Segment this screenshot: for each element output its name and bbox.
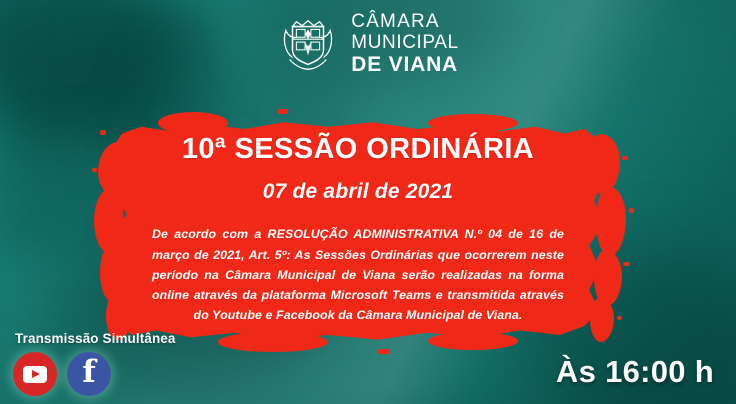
splash-speck [629,208,634,213]
youtube-icon [23,366,47,383]
brand-line-1: CÂMARA [351,12,458,31]
simulcast-label: Transmissão Simultânea [15,331,176,346]
event-poster: CÂMARA MUNICIPAL DE VIANA 10ª SESSÃO ORD [0,0,736,404]
splash-speck [623,262,630,266]
facebook-icon: f [82,357,95,388]
page-title: 10ª SESSÃO ORDINÁRIA [150,134,566,164]
simulcast-block: Transmissão Simultânea f [13,331,176,396]
youtube-link[interactable] [13,352,57,396]
red-splash-panel: 10ª SESSÃO ORDINÁRIA 07 de abril de 2021… [98,112,618,350]
splash-speck [622,156,628,160]
brand-wordmark: CÂMARA MUNICIPAL DE VIANA [351,12,458,75]
brand-line-2: MUNICIPAL [351,33,458,52]
social-links: f [13,352,176,396]
splash-content: 10ª SESSÃO ORDINÁRIA 07 de abril de 2021… [98,112,618,350]
coat-of-arms-shield-icon [277,13,339,75]
brand-line-3: DE VIANA [351,54,458,75]
splash-speck [92,168,97,172]
facebook-link[interactable]: f [67,352,111,396]
event-time: Às 16:00 h [556,354,714,390]
brand-logo: CÂMARA MUNICIPAL DE VIANA [0,12,736,75]
event-description: De acordo com a RESOLUÇÃO ADMINISTRATIVA… [150,224,566,324]
event-date: 07 de abril de 2021 [150,180,566,204]
